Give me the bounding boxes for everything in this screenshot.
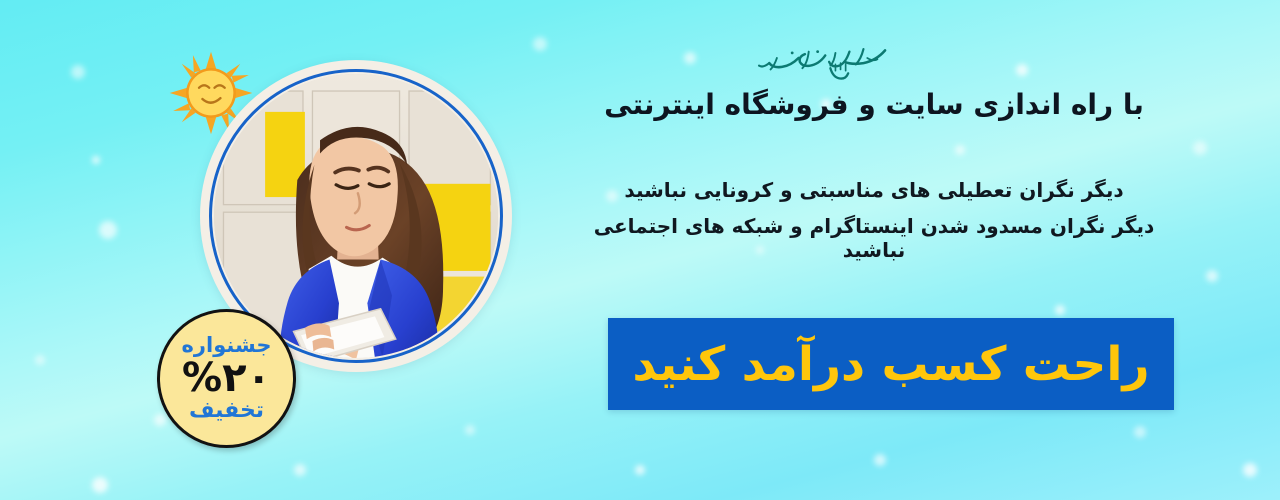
bokeh-speck bbox=[154, 414, 166, 426]
bokeh-speck bbox=[1193, 141, 1207, 155]
promotional-banner: جشنواره %۲۰ تخفیف bbox=[0, 0, 1280, 500]
bokeh-speck bbox=[71, 65, 85, 79]
cta-banner[interactable]: راحت کسب درآمد کنید bbox=[608, 318, 1174, 410]
bokeh-speck bbox=[1243, 463, 1257, 477]
subtitle-line-1: دیگر نگران تعطیلی های مناسبتی و کرونایی … bbox=[574, 178, 1174, 202]
bokeh-speck bbox=[35, 355, 45, 365]
bokeh-speck bbox=[465, 425, 475, 435]
bokeh-speck bbox=[99, 221, 117, 239]
page-title: با راه اندازی سایت و فروشگاه اینترنتی bbox=[574, 88, 1174, 121]
bokeh-speck bbox=[533, 37, 547, 51]
discount-badge: جشنواره %۲۰ تخفیف bbox=[157, 309, 296, 448]
badge-discount-value: %۲۰ bbox=[182, 357, 271, 399]
bokeh-speck bbox=[294, 464, 306, 476]
bokeh-speck bbox=[1206, 270, 1218, 282]
bokeh-speck bbox=[92, 156, 100, 164]
badge-top-label: جشنواره bbox=[182, 335, 272, 356]
cta-label: راحت کسب درآمد کنید bbox=[632, 341, 1149, 388]
bokeh-speck bbox=[92, 477, 108, 493]
text-content-column: با راه اندازی سایت و فروشگاه اینترنتی دی… bbox=[574, 0, 1174, 500]
subtitle-line-2: دیگر نگران مسدود شدن اینستاگرام و شبکه ه… bbox=[574, 214, 1174, 262]
badge-bottom-label: تخفیف bbox=[189, 400, 264, 422]
